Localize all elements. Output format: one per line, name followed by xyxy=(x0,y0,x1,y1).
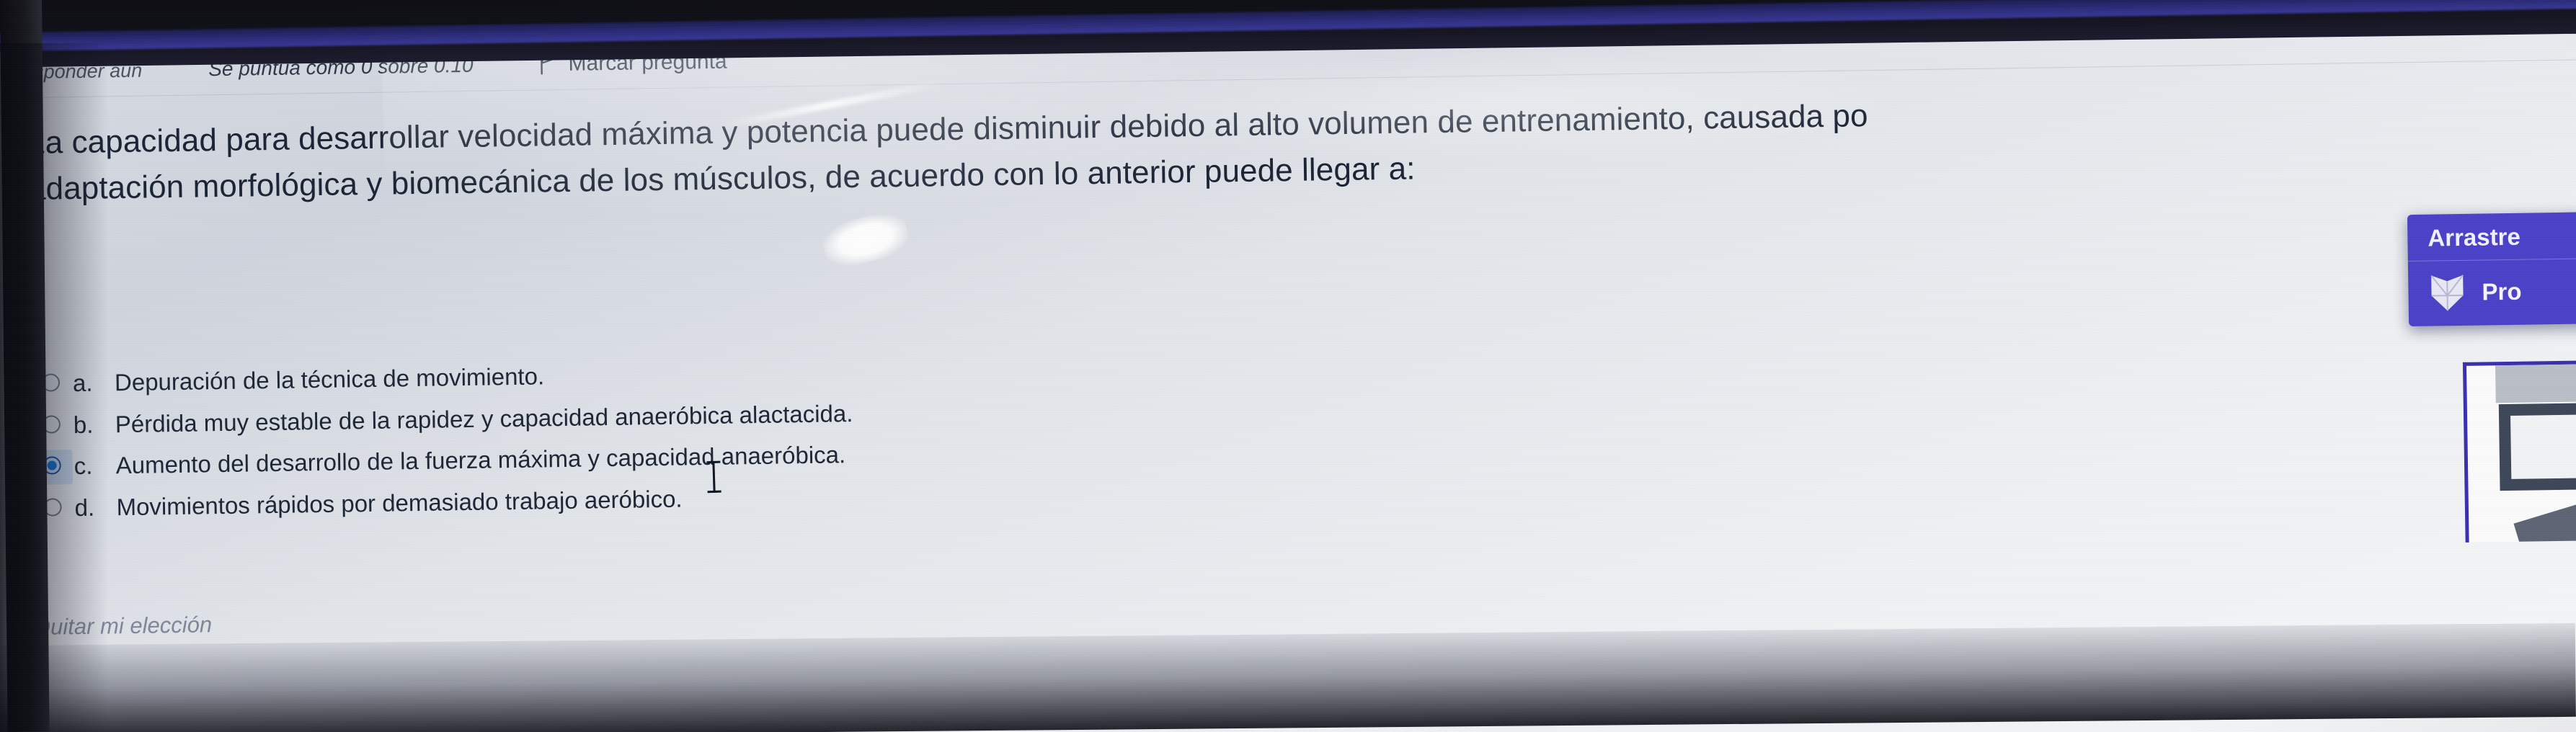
answer-option-d[interactable]: d. Movimientos rápidos por demasiado tra… xyxy=(30,482,854,523)
side-card-shade xyxy=(2495,363,2576,403)
answer-options: a. Depuración de la técnica de movimient… xyxy=(28,357,855,522)
clipped-side-card[interactable] xyxy=(2463,359,2576,542)
extension-popup-title: Arrastre xyxy=(2407,211,2576,262)
answer-option-b[interactable]: b. Pérdida muy estable de la rapidez y c… xyxy=(29,399,853,440)
clear-my-choice-link[interactable]: Quitar mi elección xyxy=(33,612,213,640)
answer-text-a: Depuración de la técnica de movimiento. xyxy=(115,362,545,396)
answer-text-b: Pérdida muy estable de la rapidez y capa… xyxy=(115,399,853,439)
side-card-frame xyxy=(2499,402,2576,491)
answer-option-a[interactable]: a. Depuración de la técnica de movimient… xyxy=(28,357,853,398)
extension-popup-item[interactable]: Pro xyxy=(2408,258,2576,326)
answer-letter-d: d. xyxy=(74,493,117,522)
answer-letter-b: b. xyxy=(74,410,116,439)
screen-glare-hotspot xyxy=(819,207,912,272)
answer-text-d: Movimientos rápidos por demasiado trabaj… xyxy=(116,484,683,521)
monitor-screen: n responder aún Se puntúa como 0 sobre 0… xyxy=(0,5,2576,732)
answer-text-c: Aumento del desarrollo de la fuerza máxi… xyxy=(115,440,845,480)
extension-popup[interactable]: Arrastre Pro xyxy=(2407,211,2576,326)
answer-option-c[interactable]: c. Aumento del desarrollo de la fuerza m… xyxy=(29,440,853,481)
quiz-page: n responder aún Se puntúa como 0 sobre 0… xyxy=(0,5,2576,732)
question-text: La capacidad para desarrollar velocidad … xyxy=(27,82,2576,212)
answer-letter-c: c. xyxy=(74,451,116,480)
answer-letter-a: a. xyxy=(73,368,115,397)
monitor-bezel-left xyxy=(0,0,50,732)
monitor-photo-scene: n responder aún Se puntúa como 0 sobre 0… xyxy=(0,0,2576,732)
shield-hex-icon xyxy=(2428,272,2466,313)
extension-popup-item-label: Pro xyxy=(2482,278,2522,306)
